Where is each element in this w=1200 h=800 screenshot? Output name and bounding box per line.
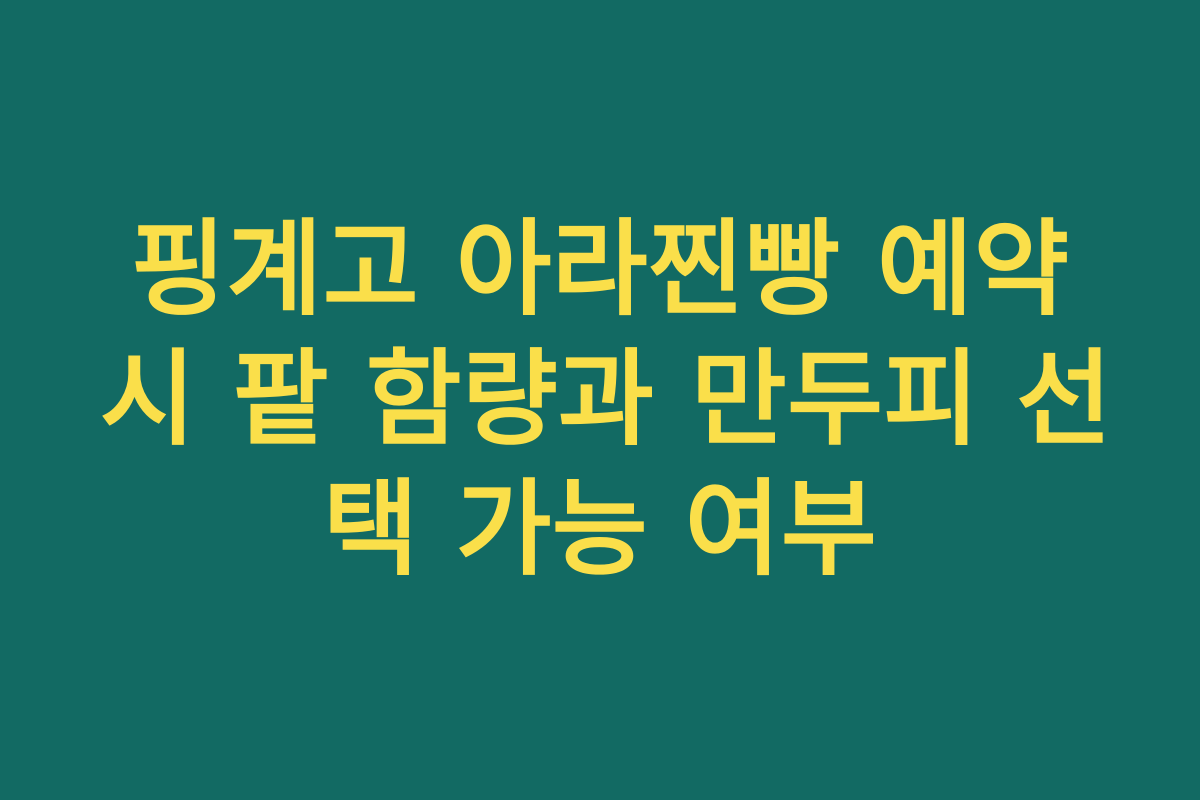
headline-block: 핑계고 아라찐빵 예약 시 팥 함량과 만두피 선 택 가능 여부 — [100, 204, 1100, 594]
headline-line-2: 시 팥 함량과 만두피 선 — [100, 334, 1100, 464]
headline-line-3: 택 가능 여부 — [100, 464, 1100, 594]
headline-line-1: 핑계고 아라찐빵 예약 — [100, 204, 1100, 334]
thumbnail-card: 핑계고 아라찐빵 예약 시 팥 함량과 만두피 선 택 가능 여부 — [0, 0, 1200, 800]
